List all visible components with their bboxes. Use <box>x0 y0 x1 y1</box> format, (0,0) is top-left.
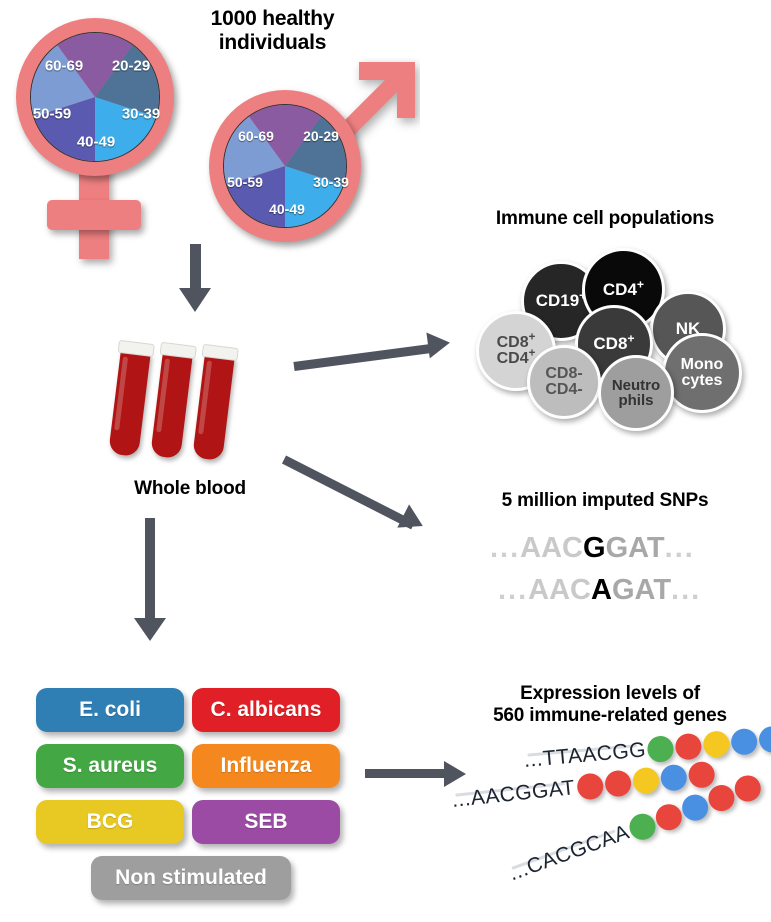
female-crossbar <box>47 200 141 230</box>
snp-variant: G <box>583 532 606 564</box>
page-title-line2: individuals <box>165 31 380 55</box>
snp-suffix-dots: ... <box>671 574 701 606</box>
arrow-head <box>134 618 166 641</box>
pie-label-40-49: 40-49 <box>269 201 305 217</box>
tube-body <box>108 349 151 457</box>
snp-row: ...AACGGAT... <box>490 532 695 565</box>
immune-cell-cd8-cd4-dn: CD8-CD4- <box>527 345 601 419</box>
stimuli-panel: E. coli C. albicans S. aureus Influenza … <box>28 688 348 896</box>
pie-label-50-59: 50-59 <box>33 106 71 123</box>
snp-suffix-dots: ... <box>665 532 695 564</box>
stimulus-non-stimulated[interactable]: Non stimulated <box>91 856 291 900</box>
whole-blood-label: Whole blood <box>80 478 300 500</box>
strand-bead <box>731 772 764 805</box>
arrow-shaft <box>190 244 201 292</box>
strand-bead <box>576 772 605 801</box>
pie-label-30-39: 30-39 <box>313 174 349 190</box>
blood-tube <box>193 344 236 452</box>
tube-body <box>150 351 193 459</box>
snp-right: GAT <box>612 574 671 606</box>
strand-bead <box>652 800 685 833</box>
immune-cell-monocytes: Monocytes <box>662 333 742 413</box>
immune-cell-label: CD4+ <box>603 281 644 298</box>
immune-cell-label: Monocytes <box>681 357 724 390</box>
strand-bead <box>687 761 716 790</box>
immune-cell-label: CD8-CD4- <box>545 366 582 399</box>
blood-tubes <box>118 340 258 470</box>
immune-section-title: Immune cell populations <box>440 208 770 230</box>
arrow-shaft <box>145 518 155 623</box>
pie-label-40-49: 40-49 <box>77 134 115 151</box>
arrow-shaft <box>365 769 450 778</box>
arrow-shaft <box>282 455 415 529</box>
strand-bead <box>703 730 731 758</box>
stimulus-c-albicans[interactable]: C. albicans <box>192 688 340 732</box>
pie-label-30-39: 30-39 <box>122 106 160 123</box>
stimulus-s-aureus[interactable]: S. aureus <box>36 744 184 788</box>
pie-label-60-69: 60-69 <box>45 58 83 75</box>
strand-bead <box>647 735 675 763</box>
female-symbol: 20-29 30-39 40-49 50-59 60-69 <box>8 14 188 259</box>
immune-cell-neutrophils: Neutrophils <box>598 355 674 431</box>
snp-right: GAT <box>606 532 665 564</box>
stimulus-e-coli[interactable]: E. coli <box>36 688 184 732</box>
stimulus-influenza[interactable]: Influenza <box>192 744 340 788</box>
male-symbol: 20-29 30-39 40-49 50-59 60-69 <box>203 58 418 248</box>
arrow-shaft <box>293 344 433 371</box>
expression-title-line1: Expression levels of <box>450 683 770 705</box>
expression-title-line2: 560 immune-related genes <box>450 705 770 727</box>
snp-prefix-dots: ... <box>490 532 520 564</box>
snp-variant: A <box>591 574 612 606</box>
strand-bead <box>679 791 712 824</box>
blood-tube <box>109 340 152 448</box>
strand-bead <box>731 728 759 756</box>
immune-cell-label: Neutrophils <box>612 378 660 409</box>
pie-label-20-29: 20-29 <box>112 58 150 75</box>
strand-sequence: ...CACGCAA <box>506 821 633 887</box>
snp-sequences: ...AACGGAT... ...AACAGAT... <box>490 528 740 618</box>
pie-label-20-29: 20-29 <box>303 128 339 144</box>
strand-sequence: ...AACGGAT <box>451 776 576 813</box>
immune-cell-cluster: CD19+ CD4+ NK CD8+CD4+ CD8+ Monocytes CD… <box>470 243 750 418</box>
blood-tube <box>151 342 194 450</box>
page-title-line1: 1000 healthy <box>165 7 380 31</box>
strand-bead <box>603 769 632 798</box>
snp-section-title: 5 million imputed SNPs <box>455 490 755 512</box>
arrow-head <box>179 288 211 312</box>
pie-label-60-69: 60-69 <box>238 128 274 144</box>
arrow-head <box>426 330 451 359</box>
strand-bead <box>631 766 660 795</box>
page-title: 1000 healthy individuals <box>165 7 380 55</box>
rna-strands: ...TTAACGG ...AACGGAT ...CACGCAA <box>440 740 771 920</box>
snp-prefix-dots: ... <box>498 574 528 606</box>
strand-bead <box>758 725 771 753</box>
immune-cell-label: CD19+ <box>536 292 587 309</box>
snp-left: AAC <box>520 532 583 564</box>
pie-label-50-59: 50-59 <box>227 174 263 190</box>
snp-row: ...AACAGAT... <box>498 574 701 607</box>
snp-left: AAC <box>528 574 591 606</box>
arrow-head <box>397 504 428 537</box>
stimulus-seb[interactable]: SEB <box>192 800 340 844</box>
immune-cell-label: CD8+ <box>593 335 634 352</box>
immune-cell-label: CD8+CD4+ <box>497 335 536 368</box>
stimulus-bcg[interactable]: BCG <box>36 800 184 844</box>
strand-bead <box>675 732 703 760</box>
tube-body <box>192 353 235 461</box>
strand-bead <box>659 763 688 792</box>
strand-sequence: ...TTAACGG <box>523 738 647 773</box>
expression-section-title: Expression levels of 560 immune-related … <box>450 683 770 727</box>
